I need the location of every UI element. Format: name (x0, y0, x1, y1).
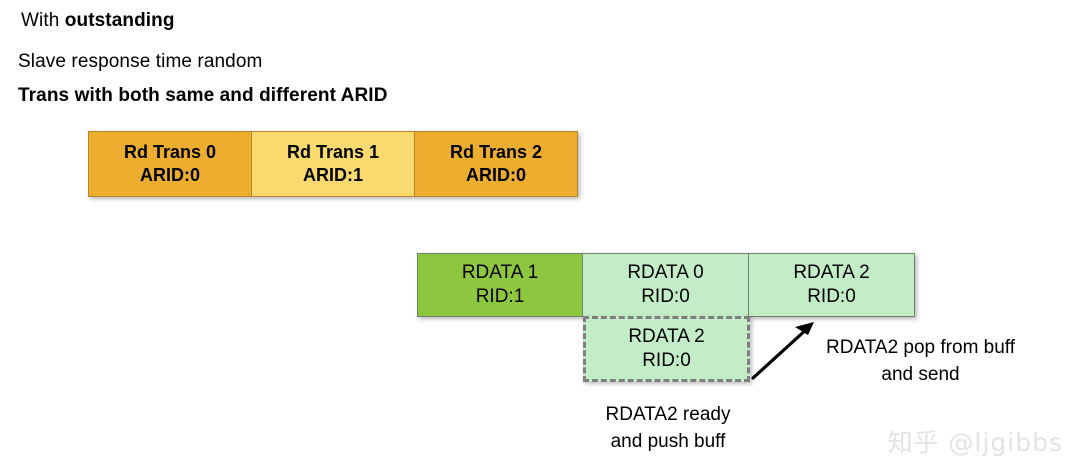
diagram-canvas: With outstanding Slave response time ran… (0, 0, 1077, 475)
rd-trans-cell-2: Rd Trans 2 ARID:0 (414, 131, 578, 197)
rd-trans-cell-1-arid: ARID:1 (303, 164, 363, 187)
arrow-up-right-icon (746, 314, 826, 386)
rdata-row: RDATA 1 RID:1 RDATA 0 RID:0 RDATA 2 RID:… (417, 253, 915, 317)
rdata-cell-2-rid: RID:0 (807, 285, 856, 309)
pop-caption-line1: RDATA2 pop from buff (826, 335, 1015, 362)
title-emphasis: outstanding (65, 10, 175, 31)
subtitle-trans-arid: Trans with both same and different ARID (18, 85, 388, 107)
rd-trans-cell-1: Rd Trans 1 ARID:1 (251, 131, 415, 197)
rdata-cell-0-rid: RID:1 (476, 285, 525, 309)
rdata-buffered-title: RDATA 2 (628, 325, 704, 349)
rd-trans-cell-0-arid: ARID:0 (140, 164, 200, 187)
rd-trans-cell-2-arid: ARID:0 (466, 164, 526, 187)
rdata-buffered-rid: RID:0 (642, 349, 691, 373)
rdata-cell-1-title: RDATA 0 (627, 261, 703, 285)
rdata-cell-2: RDATA 2 RID:0 (748, 253, 915, 317)
ready-caption-line1: RDATA2 ready (586, 402, 750, 429)
rdata-cell-1-rid: RID:0 (641, 285, 690, 309)
rdata-cell-2-title: RDATA 2 (793, 261, 869, 285)
rdata-cell-0: RDATA 1 RID:1 (417, 253, 583, 317)
rd-trans-cell-1-title: Rd Trans 1 (287, 141, 379, 164)
rd-trans-cell-0-title: Rd Trans 0 (124, 141, 216, 164)
ready-push-buff-caption: RDATA2 ready and push buff (586, 402, 750, 456)
rdata-cell-0-title: RDATA 1 (462, 261, 538, 285)
ready-caption-line2: and push buff (586, 429, 750, 456)
title-with-outstanding: With outstanding (21, 10, 175, 32)
watermark: 知乎 @ljgibbs (888, 423, 1063, 459)
title-prefix: With (21, 10, 65, 31)
rd-trans-row: Rd Trans 0 ARID:0 Rd Trans 1 ARID:1 Rd T… (88, 131, 578, 197)
subtitle-slave-response: Slave response time random (18, 51, 262, 73)
rd-trans-cell-2-title: Rd Trans 2 (450, 141, 542, 164)
rdata-buffered-box: RDATA 2 RID:0 (583, 316, 750, 382)
rdata-cell-1: RDATA 0 RID:0 (582, 253, 749, 317)
rd-trans-cell-0: Rd Trans 0 ARID:0 (88, 131, 252, 197)
pop-caption-line2: and send (826, 362, 1015, 389)
pop-from-buff-caption: RDATA2 pop from buff and send (826, 335, 1015, 389)
